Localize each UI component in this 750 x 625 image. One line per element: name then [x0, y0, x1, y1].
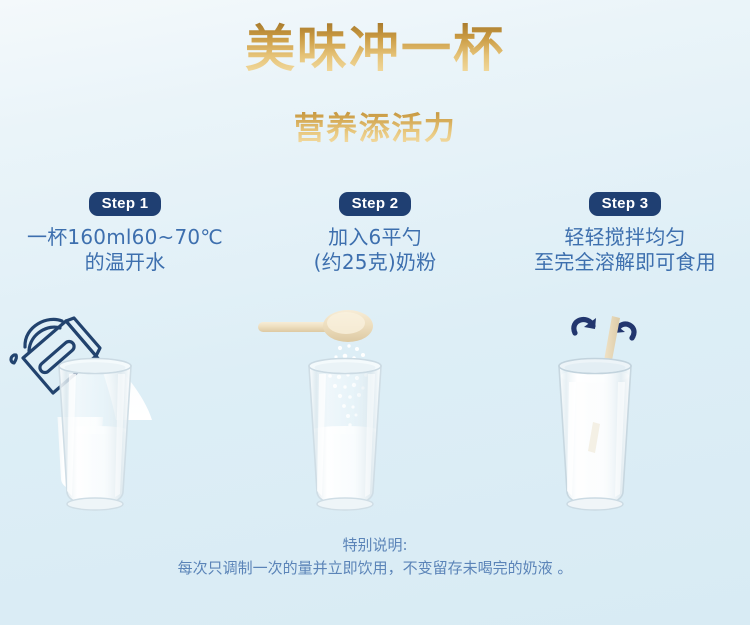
step-2-text-line-1: 加入6平勺: [250, 225, 500, 250]
step-1-label-column: Step 1 一杯160ml60~70℃ 的温开水: [0, 192, 250, 276]
step-2-illustration-svg: [250, 296, 500, 526]
promo-page: 美味冲一杯 营养添活力 Step 1 一杯160ml60~70℃ 的温开水 St…: [0, 0, 750, 625]
step-3-text: 轻轻搅拌均匀 至完全溶解即可食用: [500, 225, 750, 275]
glass-vessel: [59, 359, 131, 511]
step-1-text-line-1: 一杯160ml60~70℃: [0, 225, 250, 250]
step-2-text-line-2: (约25克)奶粉: [250, 250, 500, 275]
page-title-block: 美味冲一杯: [0, 22, 750, 76]
steps-label-row: Step 1 一杯160ml60~70℃ 的温开水 Step 2 加入6平勺 (…: [0, 192, 750, 276]
illustration-row: [0, 296, 750, 526]
wooden-spoon-icon: [258, 310, 373, 342]
step-1-illustration-svg: [0, 296, 250, 526]
special-note-body: 每次只调制一次的量并立即饮用，不变留存未喝完的奶液 。: [0, 557, 750, 580]
special-note: 特别说明: 每次只调制一次的量并立即饮用，不变留存未喝完的奶液 。: [0, 534, 750, 581]
step-3-badge: Step 3: [589, 192, 662, 216]
glass-vessel: [309, 359, 381, 511]
step-3-text-line-1: 轻轻搅拌均匀: [500, 225, 750, 250]
step-2-badge: Step 2: [339, 192, 412, 216]
stir-arrows-icon: [574, 318, 634, 338]
page-subtitle: 营养添活力: [294, 103, 457, 148]
step-1-illustration: [0, 296, 250, 526]
step-2-label-column: Step 2 加入6平勺 (约25克)奶粉: [250, 192, 500, 276]
page-subtitle-block: 营养添活力: [0, 103, 750, 148]
special-note-title: 特别说明:: [0, 534, 750, 557]
step-3-illustration-svg: [500, 296, 750, 526]
step-3-illustration: [500, 296, 750, 526]
step-1-text-line-2: 的温开水: [0, 250, 250, 275]
step-2-text: 加入6平勺 (约25克)奶粉: [250, 225, 500, 275]
step-1-text: 一杯160ml60~70℃ 的温开水: [0, 225, 250, 275]
step-2-illustration: [250, 296, 500, 526]
step-3-label-column: Step 3 轻轻搅拌均匀 至完全溶解即可食用: [500, 192, 750, 276]
step-1-badge: Step 1: [89, 192, 162, 216]
page-title: 美味冲一杯: [245, 22, 505, 76]
step-3-text-line-2: 至完全溶解即可食用: [500, 250, 750, 275]
